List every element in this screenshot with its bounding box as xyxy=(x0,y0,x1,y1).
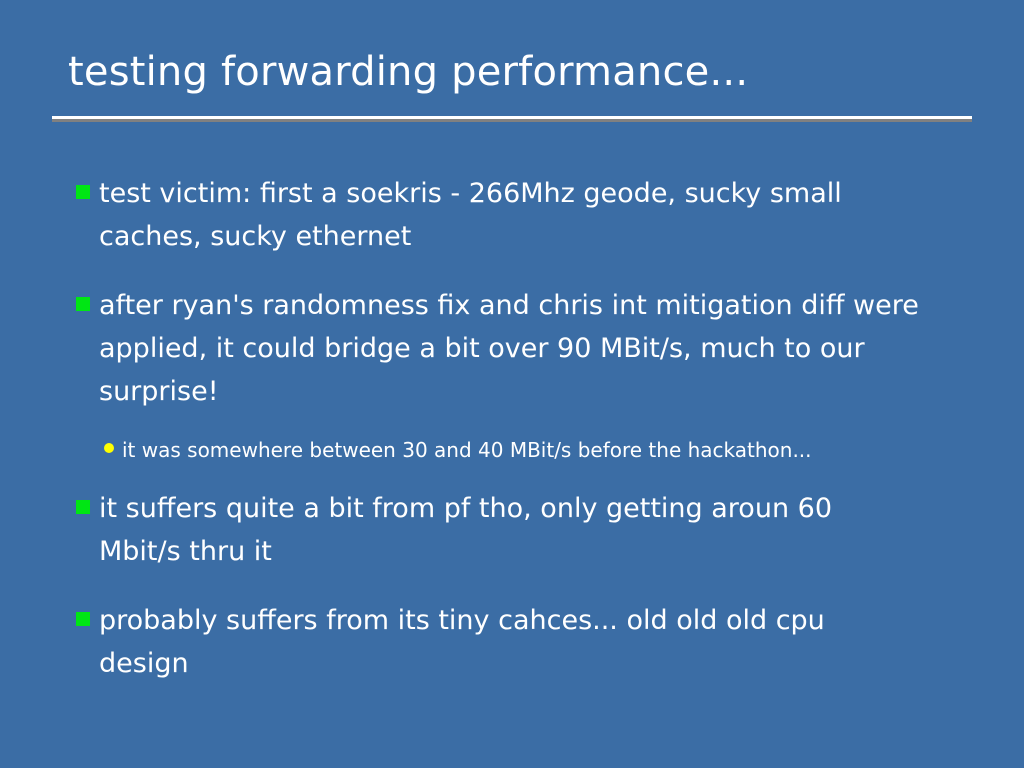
title-divider xyxy=(52,116,972,122)
list-item: test victim: first a soekris - 266Mhz ge… xyxy=(76,172,976,258)
slide-title-block: testing forwarding performance... xyxy=(52,48,972,96)
green-square-bullet-icon xyxy=(76,500,90,514)
page-title: testing forwarding performance... xyxy=(52,48,972,96)
list-item: probably suffers from its tiny cahces...… xyxy=(76,599,976,685)
divider-shadow xyxy=(52,119,972,122)
sub-list-item: it was somewhere between 30 and 40 MBit/… xyxy=(104,433,976,467)
green-square-bullet-icon xyxy=(76,185,90,199)
presentation-slide: testing forwarding performance... test v… xyxy=(0,0,1024,768)
yellow-dot-bullet-icon xyxy=(104,443,114,453)
list-item-label: test victim: first a soekris - 266Mhz ge… xyxy=(99,172,919,258)
list-item: after ryan's randomness fix and chris in… xyxy=(76,284,976,413)
list-item-label: after ryan's randomness fix and chris in… xyxy=(99,284,919,413)
slide-body: test victim: first a soekris - 266Mhz ge… xyxy=(76,172,976,711)
sub-list-item-label: it was somewhere between 30 and 40 MBit/… xyxy=(122,433,812,467)
list-item: it suffers quite a bit from pf tho, only… xyxy=(76,487,976,573)
list-item-label: it suffers quite a bit from pf tho, only… xyxy=(99,487,919,573)
list-item-label: probably suffers from its tiny cahces...… xyxy=(99,599,919,685)
green-square-bullet-icon xyxy=(76,612,90,626)
green-square-bullet-icon xyxy=(76,297,90,311)
